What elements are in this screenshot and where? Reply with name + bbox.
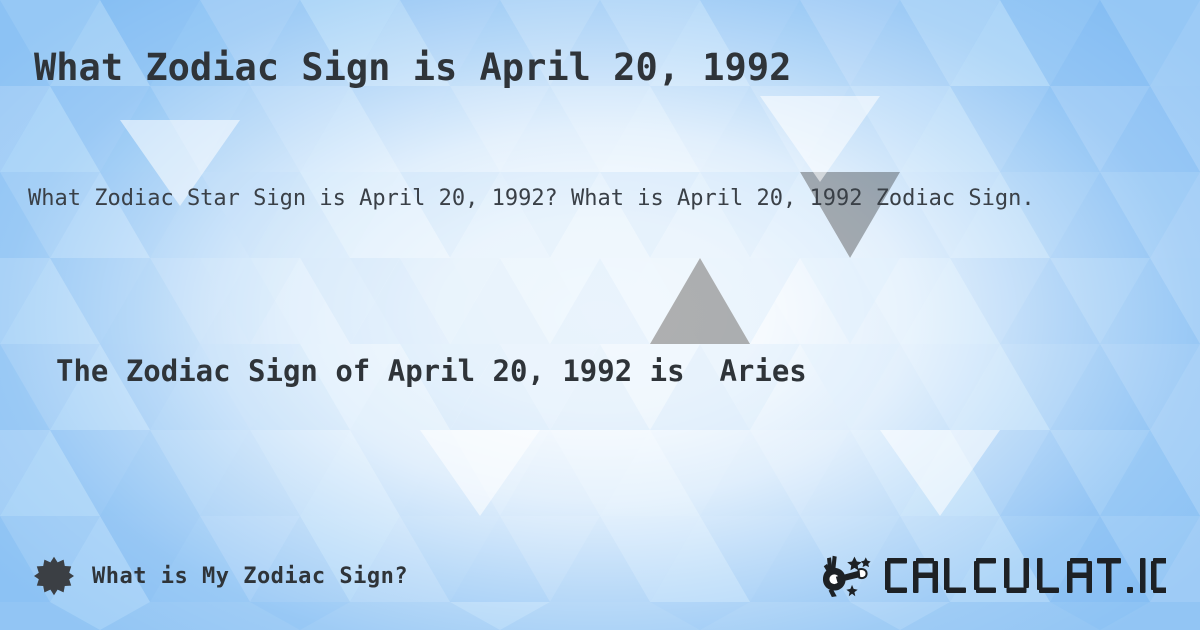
- brand-wordmark: [884, 555, 1166, 597]
- footer: What is My Zodiac Sign?: [0, 548, 1200, 604]
- content-area: What Zodiac Sign is April 20, 1992 What …: [0, 0, 1200, 630]
- zodiac-result-text: The Zodiac Sign of April 20, 1992 is Ari…: [56, 354, 807, 388]
- zodiac-result-card: What Zodiac Sign is April 20, 1992 What …: [0, 0, 1200, 630]
- brand-logo[interactable]: [822, 555, 1166, 597]
- starburst-icon: [34, 556, 74, 596]
- page-description: What Zodiac Star Sign is April 20, 1992?…: [28, 182, 1168, 216]
- footer-link-label: What is My Zodiac Sign?: [92, 564, 408, 589]
- brand-text-calculatio: [884, 556, 1166, 596]
- footer-link[interactable]: What is My Zodiac Sign?: [34, 556, 408, 596]
- page-title: What Zodiac Sign is April 20, 1992: [34, 46, 791, 89]
- magic-wand-hand-icon: [822, 555, 874, 597]
